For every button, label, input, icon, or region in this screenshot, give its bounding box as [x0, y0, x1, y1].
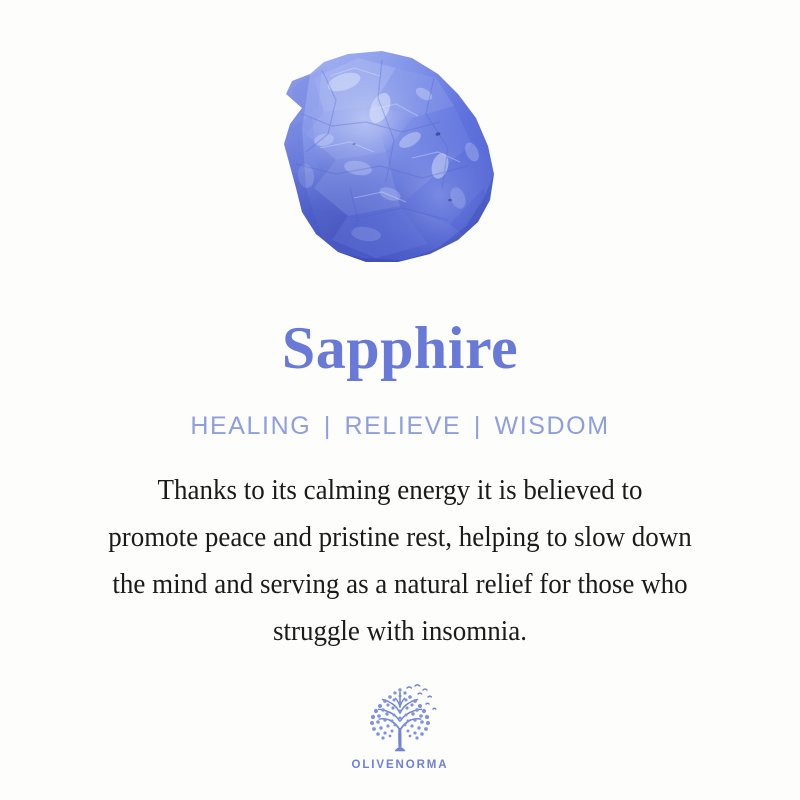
description-line: promote peace and pristine rest, helping… — [50, 514, 749, 561]
brand-wordmark: OLIVENORMA — [352, 759, 449, 771]
sapphire-crystal-graphic — [262, 48, 508, 286]
description-line: the mind and serving as a natural relief… — [50, 561, 749, 608]
description-line: Thanks to its calming energy it is belie… — [50, 467, 749, 514]
hero-image-area — [0, 0, 800, 318]
gemstone-description: Thanks to its calming energy it is belie… — [50, 467, 749, 655]
keyword-relieve: RELIEVE — [345, 412, 462, 440]
gemstone-info-card: Sapphire HEALING | RELIEVE | WISDOM Than… — [0, 0, 800, 800]
gemstone-title: Sapphire — [282, 318, 518, 384]
keyword-separator-1: | — [320, 412, 336, 440]
keyword-healing: HEALING — [190, 412, 311, 440]
keyword-separator-2: | — [470, 412, 486, 440]
sapphire-crystal-image — [262, 48, 508, 286]
brand-logo: OLIVENORMA — [0, 684, 800, 771]
tree-of-life-icon — [360, 684, 440, 756]
keyword-wisdom: WISDOM — [495, 412, 610, 440]
keyword-list: HEALING | RELIEVE | WISDOM — [190, 412, 609, 441]
description-line: struggle with insomnia. — [50, 608, 749, 655]
